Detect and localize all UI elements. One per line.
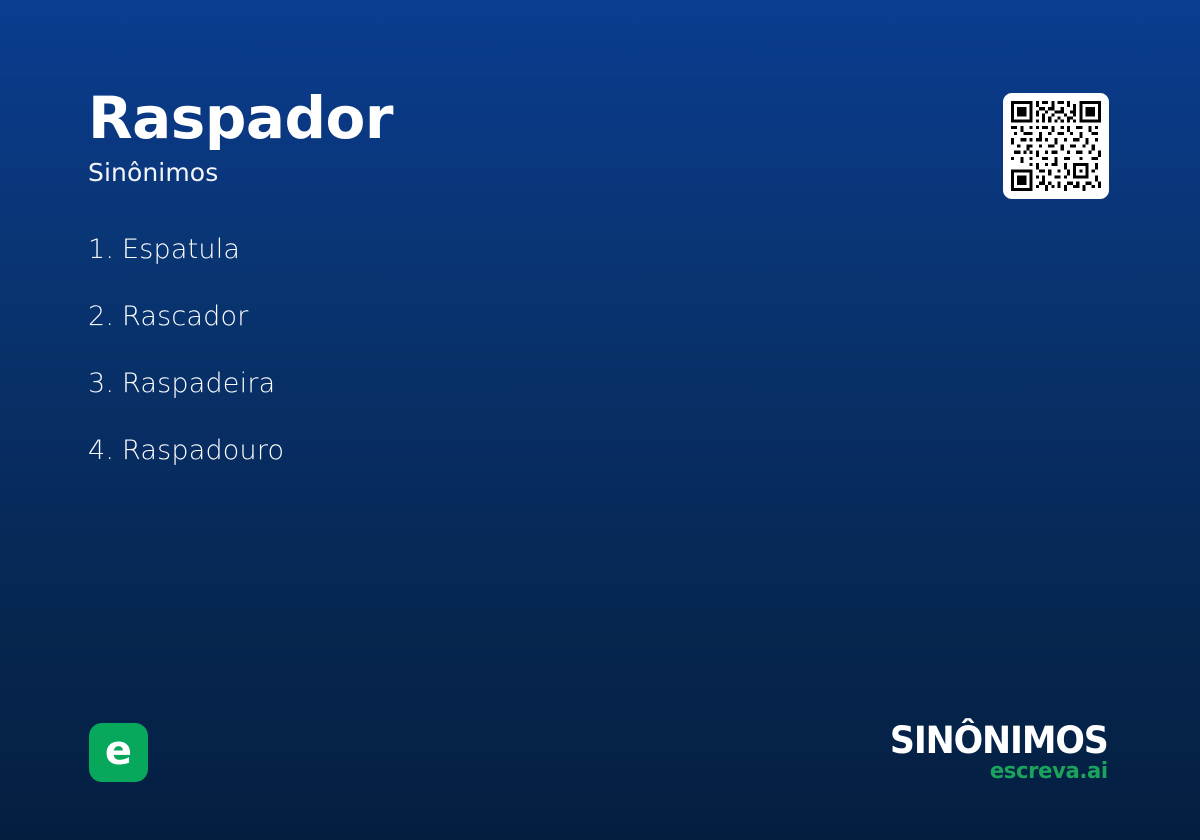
logo-wordmark: SINÔNIMOS <box>890 722 1108 759</box>
list-item-number: 4. <box>88 437 122 464</box>
list-item-number: 2. <box>88 303 122 330</box>
page-title: Raspador <box>88 88 393 149</box>
page-subtitle: Sinônimos <box>88 159 393 187</box>
list-item: 3. Raspadeira <box>88 370 728 437</box>
list-item-number: 1. <box>88 236 122 263</box>
list-item-word: Rascador <box>122 303 249 330</box>
list-item-word: Raspadeira <box>122 370 275 397</box>
list-item: 4. Raspadouro <box>88 437 728 504</box>
synonym-list: 1. Espatula 2. Rascador 3. Raspadeira 4.… <box>88 236 728 504</box>
sinonimos-logo: SINÔNIMOS escreva.ai <box>876 722 1108 783</box>
escreva-e-badge-icon: e <box>89 723 148 782</box>
qr-code[interactable] <box>1003 93 1109 199</box>
badge-letter: e <box>105 731 132 771</box>
synonym-card: Raspador Sinônimos <box>0 0 1200 840</box>
list-item-number: 3. <box>88 370 122 397</box>
list-item-word: Raspadouro <box>122 437 284 464</box>
list-item: 1. Espatula <box>88 236 728 303</box>
header: Raspador Sinônimos <box>88 88 393 186</box>
qr-code-icon <box>1011 101 1101 191</box>
list-item-word: Espatula <box>122 236 240 263</box>
list-item: 2. Rascador <box>88 303 728 370</box>
logo-tagline: escreva.ai <box>886 761 1108 783</box>
